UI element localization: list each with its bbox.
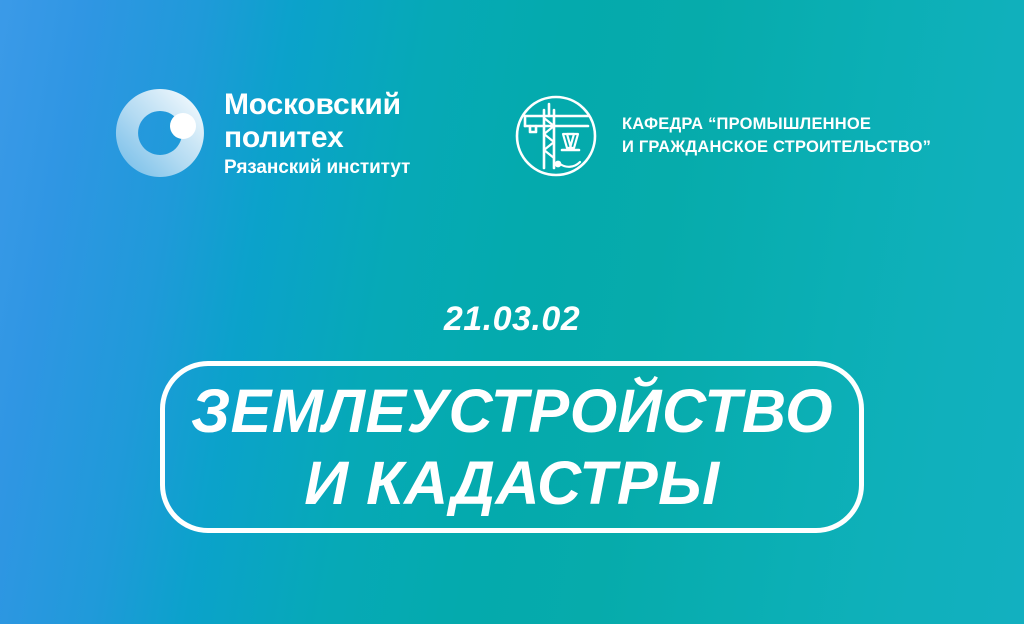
department-logo-lockup: КАФЕДРА “ПРОМЫШЛЕННОЕ И ГРАЖДАНСКОЕ СТРО… bbox=[508, 88, 931, 184]
department-name: КАФЕДРА “ПРОМЫШЛЕННОЕ И ГРАЖДАНСКОЕ СТРО… bbox=[622, 113, 931, 159]
university-name-line1: Московский bbox=[224, 88, 410, 121]
program-code: 21.03.02 bbox=[0, 300, 1024, 339]
university-name-line2: политех bbox=[224, 121, 410, 154]
header-row: Московский политех Рязанский институт bbox=[0, 86, 1024, 196]
program-title-line2: И КАДАСТРЫ bbox=[304, 447, 719, 519]
slide-canvas: Московский политех Рязанский институт bbox=[0, 0, 1024, 624]
university-wordmark: Московский политех Рязанский институт bbox=[224, 86, 410, 180]
program-title-line1: ЗЕМЛЕУСТРОЙСТВО bbox=[191, 375, 833, 447]
university-logo-lockup: Московский политех Рязанский институт bbox=[114, 86, 410, 180]
construction-crane-circle-emblem-icon bbox=[508, 88, 604, 184]
department-name-line2: И ГРАЖДАНСКОЕ СТРОИТЕЛЬСТВО” bbox=[622, 136, 931, 159]
moscow-polytech-ring-logo-icon bbox=[114, 87, 206, 179]
university-subtitle: Рязанский институт bbox=[224, 156, 410, 180]
program-title-plate: ЗЕМЛЕУСТРОЙСТВО И КАДАСТРЫ bbox=[160, 361, 864, 533]
department-name-line1: КАФЕДРА “ПРОМЫШЛЕННОЕ bbox=[622, 113, 931, 136]
